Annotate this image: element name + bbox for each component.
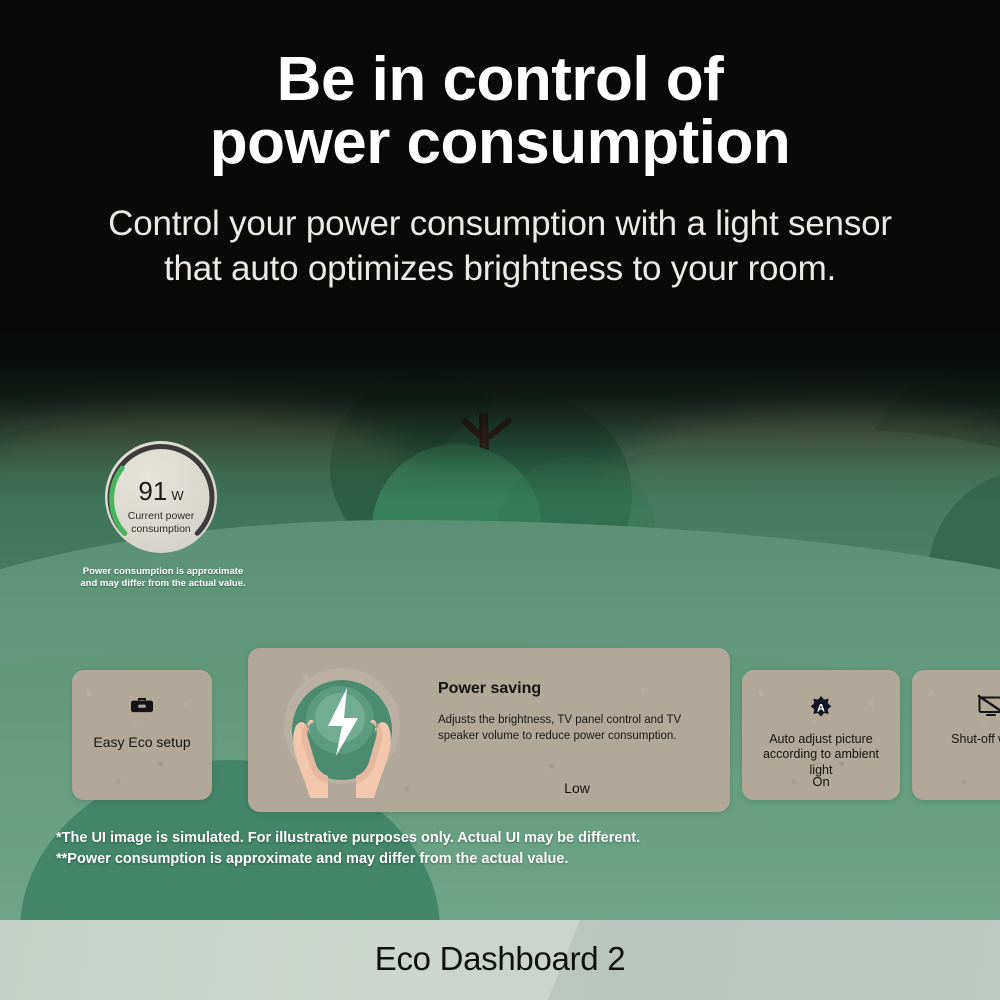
- card-power-saving[interactable]: Power saving Adjusts the brightness, TV …: [248, 648, 730, 812]
- hero-text-block: Be in control of power consumption Contr…: [0, 48, 1000, 292]
- card-shut-off-label: Shut-off watch: [912, 732, 1000, 747]
- gauge-disclaimer-line-1: Power consumption is approximate: [48, 566, 278, 578]
- tv-off-icon-svg: [977, 694, 1000, 718]
- caption-title: Eco Dashboard 2: [0, 940, 1000, 978]
- gauge-caption: Current power consumption: [96, 510, 226, 536]
- subhead-line-1: Control your power consumption with a li…: [0, 202, 1000, 247]
- gauge-caption-line-2: consumption: [96, 523, 226, 536]
- card-shut-off[interactable]: Shut-off watch: [912, 670, 1000, 800]
- eco-dashboard-cards: Easy Eco setup Power savi: [0, 648, 1000, 818]
- headline-line-1: Be in control of: [0, 48, 1000, 111]
- gauge-caption-line-1: Current power: [96, 510, 226, 523]
- toolbox-icon-svg: [129, 694, 155, 716]
- auto-brightness-a-icon-svg: A: [808, 694, 834, 720]
- svg-text:A: A: [817, 702, 825, 714]
- card-power-saving-description: Adjusts the brightness, TV panel control…: [438, 712, 716, 745]
- footnote-line-2: **Power consumption is approximate and m…: [56, 849, 640, 870]
- promo-banner: Be in control of power consumption Contr…: [0, 0, 1000, 1000]
- headline-line-2: power consumption: [0, 111, 1000, 174]
- subhead-line-2: that auto optimizes brightness to your r…: [0, 247, 1000, 292]
- page-title: Be in control of power consumption: [0, 48, 1000, 174]
- card-auto-adjust-picture-label: Auto adjust picture according to ambient…: [742, 732, 900, 778]
- auto-brightness-a-icon: A: [742, 694, 900, 725]
- card-easy-eco-setup[interactable]: Easy Eco setup: [72, 670, 212, 800]
- footnote-line-1: *The UI image is simulated. For illustra…: [56, 828, 640, 849]
- gauge-readout: 91W: [96, 476, 226, 507]
- tv-off-icon: [912, 694, 1000, 723]
- power-gauge: 91W Current power consumption: [96, 432, 226, 562]
- card-power-saving-title: Power saving: [438, 680, 541, 698]
- footnotes: *The UI image is simulated. For illustra…: [56, 828, 640, 870]
- card-easy-eco-setup-label: Easy Eco setup: [72, 734, 212, 751]
- card-auto-adjust-picture-value[interactable]: On: [742, 774, 900, 789]
- gauge-disclaimer-line-2: and may differ from the actual value.: [48, 578, 278, 590]
- toolbox-icon: [72, 694, 212, 721]
- gauge-value: 91: [138, 476, 167, 506]
- gauge-unit: W: [171, 488, 183, 503]
- hands-holding-energy-icon: [274, 662, 410, 798]
- power-gauge-widget: 91W Current power consumption: [96, 432, 226, 562]
- tree-branch: [486, 416, 513, 440]
- hands-holding-energy-icon-svg: [274, 662, 410, 798]
- caption-bar: Eco Dashboard 2: [0, 920, 1000, 1000]
- card-auto-adjust-picture[interactable]: A Auto adjust picture according to ambie…: [742, 670, 900, 800]
- page-subtitle: Control your power consumption with a li…: [0, 202, 1000, 292]
- card-power-saving-value[interactable]: Low: [438, 780, 716, 796]
- gauge-disclaimer: Power consumption is approximate and may…: [48, 566, 278, 591]
